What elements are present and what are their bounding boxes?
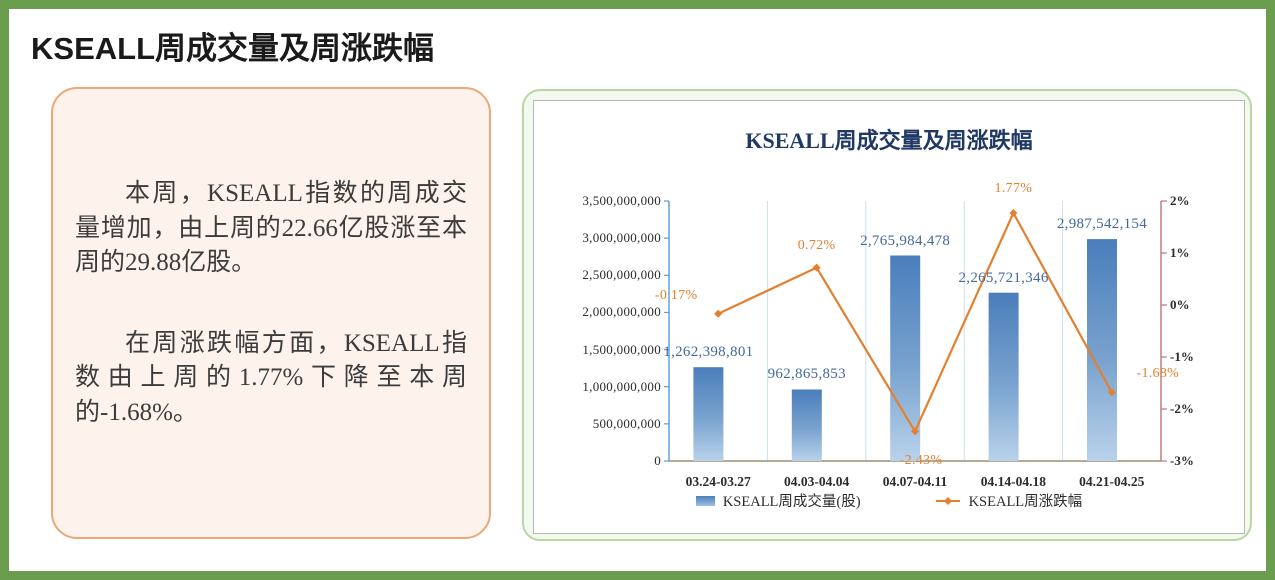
legend-item-volume[interactable]: KSEALL周成交量(股) [696,490,861,511]
bar-value-label: 962,865,853 [768,366,846,383]
x-axis-category-label: 04.03-04.04 [784,474,849,490]
chart-legend: KSEALL周成交量(股) KSEALL周涨跌幅 [534,490,1244,511]
y-axis-left-tick-label: 2,500,000,000 [582,267,661,283]
y-axis-right-tick-label: -1% [1170,349,1194,365]
legend-label-change: KSEALL周涨跌幅 [969,490,1083,511]
legend-item-change[interactable]: KSEALL周涨跌幅 [935,490,1083,511]
legend-line-swatch-icon [935,495,961,507]
commentary-card: 本周，KSEALL指数的周成交量增加，由上周的22.66亿股涨至本周的29.88… [51,87,491,539]
y-axis-right-tick-label: -2% [1170,401,1194,417]
bar-value-label: 2,265,721,346 [958,270,1048,287]
y-axis-left-tick-label: 500,000,000 [593,416,661,432]
legend-bar-swatch-icon [696,496,715,506]
commentary-paragraph-2: 在周涨跌幅方面，KSEALL指数由上周的1.77%下降至本周的-1.68%。 [75,327,467,431]
y-axis-left-tick-label: 3,500,000,000 [582,193,661,209]
line-value-label: -0.17% [655,288,698,304]
commentary-paragraph-1: 本周，KSEALL指数的周成交量增加，由上周的22.66亿股涨至本周的29.88… [75,177,467,281]
y-axis-left-tick-label: 1,000,000,000 [582,379,661,395]
x-axis-category-label: 04.14-04.18 [981,474,1046,490]
line-value-label: -2.43% [900,453,943,469]
chart-panel: KSEALL周成交量及周涨跌幅 0500,000,0001,000,000,00… [533,100,1245,534]
x-axis-category-label: 04.21-04.25 [1079,474,1144,490]
legend-label-volume: KSEALL周成交量(股) [723,490,861,511]
y-axis-right-tick-label: 1% [1170,245,1190,261]
y-axis-right-tick-label: -3% [1170,453,1194,469]
chart-bar [989,293,1019,461]
y-axis-left-tick-label: 1,500,000,000 [582,342,661,358]
page-title: KSEALL周成交量及周涨跌幅 [31,23,434,68]
bar-value-label: 2,987,542,154 [1057,216,1147,233]
bar-value-label: 1,262,398,801 [663,344,753,361]
y-axis-right-tick-label: 0% [1170,297,1190,313]
chart-bar [693,367,723,461]
chart-line-marker [714,310,722,318]
commentary-body: 本周，KSEALL指数的周成交量增加，由上周的22.66亿股涨至本周的29.88… [75,177,467,430]
chart-bar [792,390,822,462]
y-axis-left-tick-label: 3,000,000,000 [582,230,661,246]
x-axis-category-label: 04.07-04.11 [883,474,948,490]
line-value-label: 0.72% [798,238,836,254]
chart-plot-area: 0500,000,0001,000,000,0001,500,000,0002,… [669,201,1161,461]
chart-title: KSEALL周成交量及周涨跌幅 [534,123,1244,155]
x-axis-category-label: 03.24-03.27 [686,474,751,490]
bar-value-label: 2,765,984,478 [860,233,950,250]
chart-card: KSEALL周成交量及周涨跌幅 0500,000,0001,000,000,00… [522,89,1252,541]
slide-root: KSEALL周成交量及周涨跌幅 本周，KSEALL指数的周成交量增加，由上周的2… [0,0,1275,580]
y-axis-left-tick-label: 2,000,000,000 [582,304,661,320]
y-axis-left-tick-label: 0 [654,453,661,469]
line-value-label: -1.68% [1136,366,1179,382]
line-value-label: 1.77% [995,181,1033,197]
chart-bar [1087,239,1117,461]
y-axis-right-tick-label: 2% [1170,193,1190,209]
chart-line-marker [1009,209,1017,217]
